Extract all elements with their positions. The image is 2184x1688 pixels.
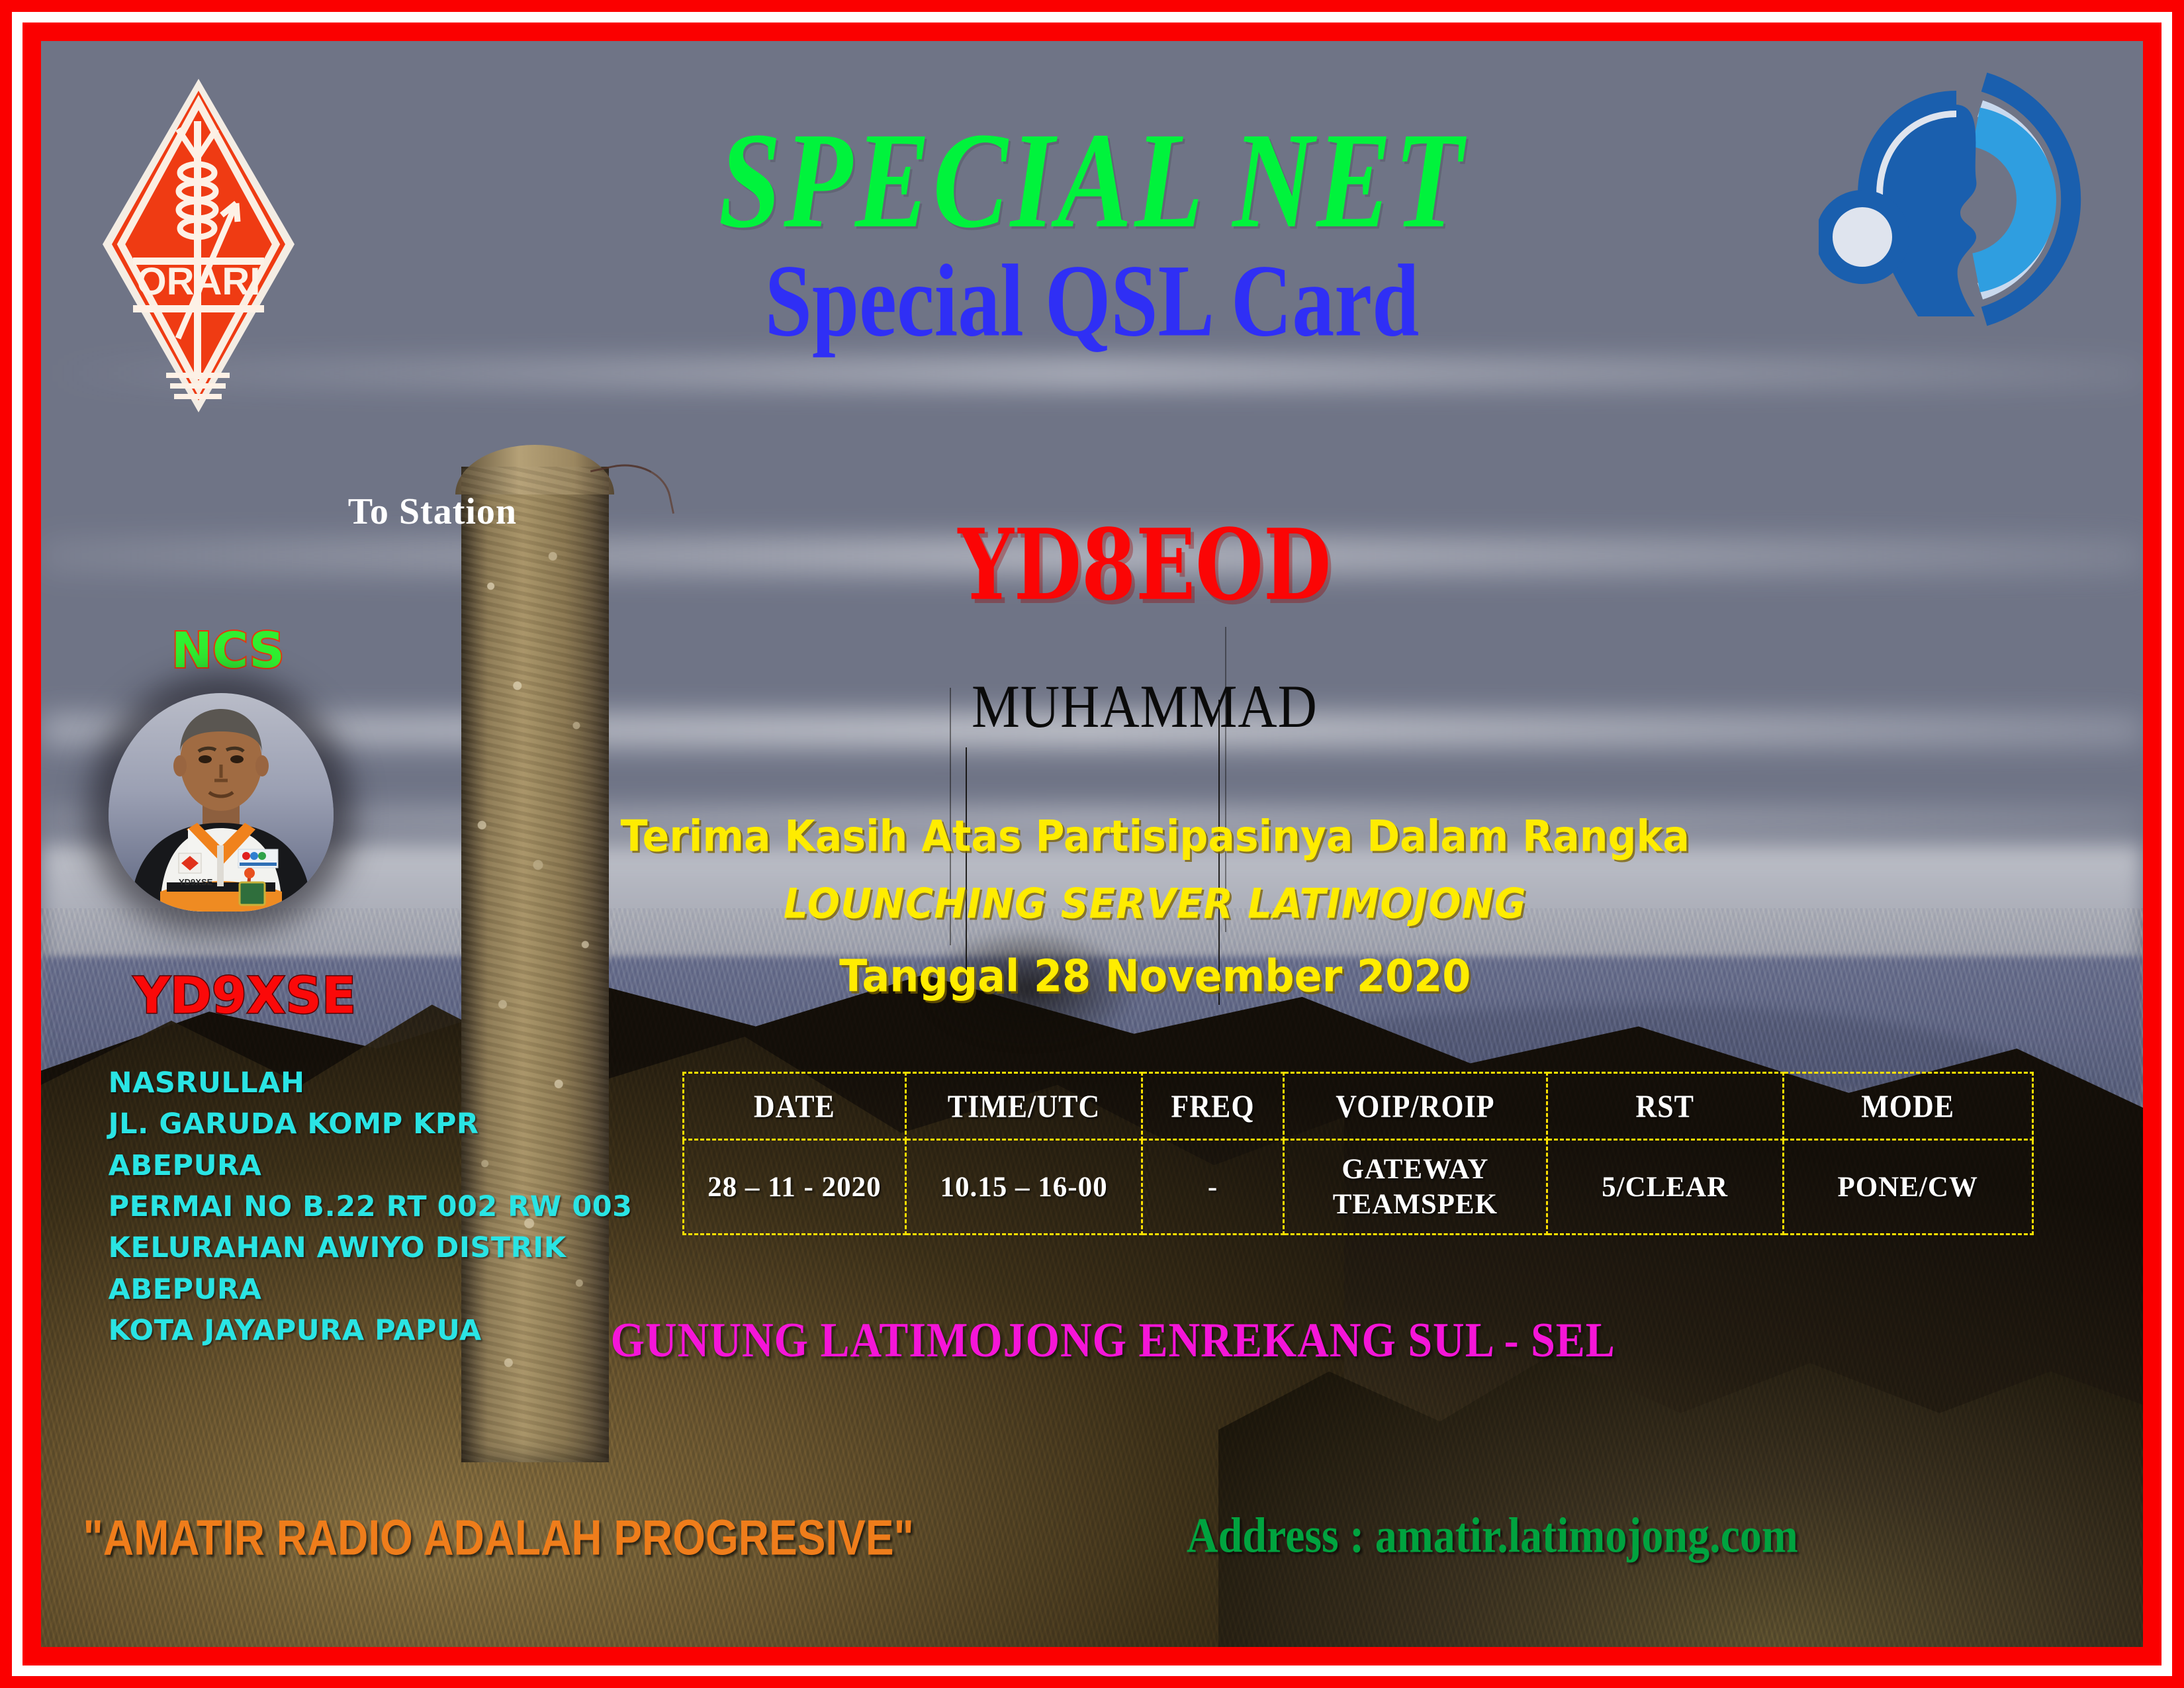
card-red-inner-frame: ORARI SPECIAL NET Special QSL Card To St [23, 23, 2161, 1665]
thanks-line-3: Tanggal 28 November 2020 [104, 950, 2143, 1002]
cell-voip-line1: GATEWAY [1285, 1152, 1545, 1188]
col-header-voip: VOIP/ROIP [1284, 1070, 1547, 1143]
address-line: JL. GARUDA KOMP KPR [109, 1103, 633, 1145]
mailing-address: NASRULLAH JL. GARUDA KOMP KPR ABEPURA PE… [109, 1062, 633, 1351]
website-address: Address : amatir.latimojong.com [1187, 1507, 1798, 1565]
ncs-label: NCS [171, 622, 285, 679]
card-white-inner-frame: ORARI SPECIAL NET Special QSL Card To St [12, 12, 2172, 1676]
col-header-freq: FREQ [1142, 1070, 1283, 1143]
col-header-rst: RST [1547, 1070, 1783, 1143]
col-header-time: TIME/UTC [906, 1070, 1142, 1143]
cell-voip-line2: TEAMSPEK [1285, 1187, 1545, 1223]
col-header-mode: MODE [1783, 1070, 2032, 1143]
cell-time: 10.15 – 16-00 [906, 1140, 1142, 1235]
cell-mode: PONE/CW [1783, 1140, 2032, 1235]
cloud-streak [41, 362, 2143, 385]
cell-date: 28 – 11 - 2020 [683, 1140, 905, 1235]
address-line: ABEPURA [109, 1145, 633, 1186]
subtitle: Special QSL Card [41, 242, 2143, 360]
recipient-callsign: YD8EOD [93, 507, 2143, 622]
qso-log-table: DATE TIME/UTC FREQ VOIP/ROIP RST MODE 28… [682, 1072, 2034, 1235]
uniform-callsign-text: YD9XSE [179, 877, 213, 887]
table-row: 28 – 11 - 2020 10.15 – 16-00 - GATEWAY T… [683, 1140, 2032, 1235]
col-header-date: DATE [683, 1070, 905, 1143]
location-line: GUNUNG LATIMOJONG ENREKANG SUL - SEL [62, 1313, 2143, 1369]
address-line: ABEPURA [109, 1269, 633, 1310]
thanks-line-1: Terima Kasih Atas Partisipasinya Dalam R… [104, 812, 2143, 862]
qsl-card: ORARI SPECIAL NET Special QSL Card To St [0, 0, 2184, 1688]
operator-name: MUHAMMAD [93, 672, 2143, 741]
address-line: PERMAI NO B.22 RT 002 RW 003 [109, 1186, 633, 1227]
card-photo-background: ORARI SPECIAL NET Special QSL Card To St [41, 41, 2143, 1647]
thanks-line-2: LOUNCHING SERVER LATIMOJONG [104, 879, 2143, 927]
motto-text: "AMATIR RADIO ADALAH PROGRESIVE" [83, 1509, 914, 1566]
page-title: SPECIAL NET [41, 102, 2143, 259]
address-line: KELURAHAN AWIYO DISTRIK [109, 1227, 633, 1268]
address-line: NASRULLAH [109, 1062, 633, 1103]
cell-voip: GATEWAY TEAMSPEK [1284, 1140, 1547, 1235]
cell-freq: - [1142, 1140, 1283, 1235]
cell-rst: 5/CLEAR [1547, 1140, 1783, 1235]
ncs-callsign: YD9XSE [134, 966, 356, 1025]
table-header-row: DATE TIME/UTC FREQ VOIP/ROIP RST MODE [683, 1073, 2032, 1140]
